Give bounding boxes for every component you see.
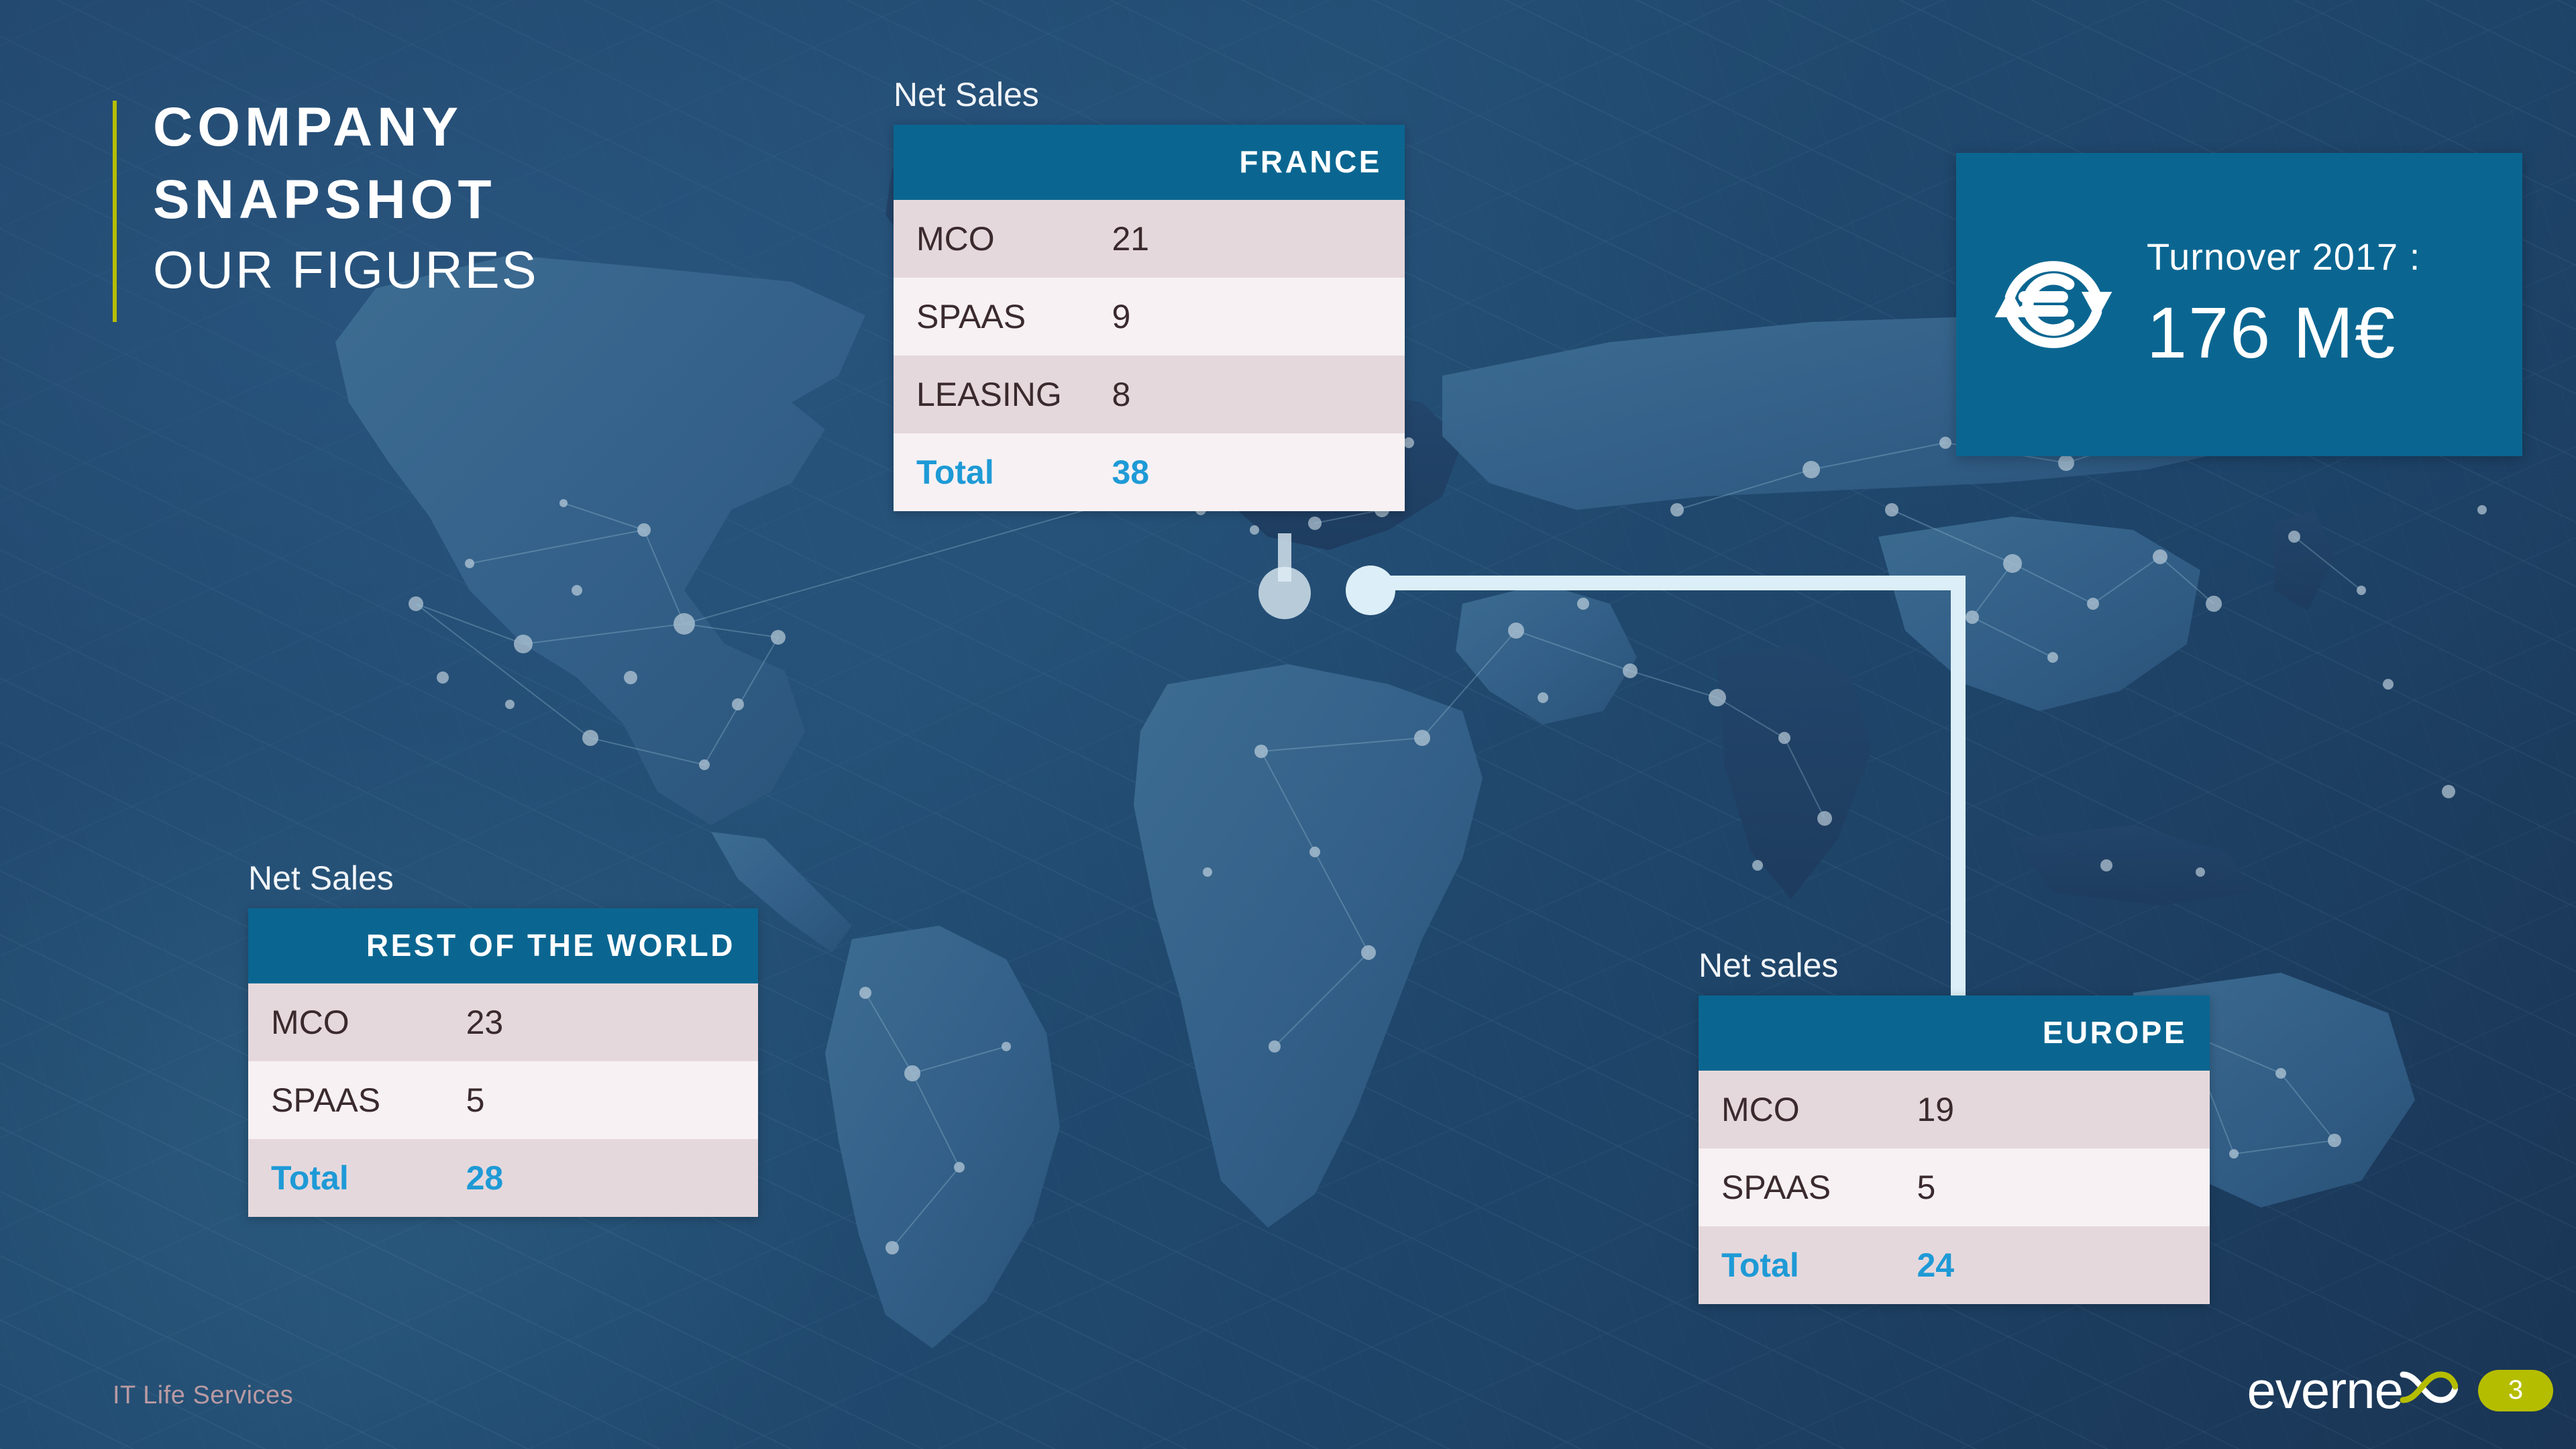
row-label-total: Total (271, 1159, 466, 1197)
table-row-total: Total 24 (1699, 1226, 2210, 1304)
turnover-label: Turnover 2017 : (2147, 235, 2485, 278)
row-value-total: 38 (1112, 453, 1149, 492)
table-row: SPAAS 5 (248, 1061, 758, 1139)
row-label: MCO (271, 1003, 466, 1042)
table-row: SPAAS 5 (1699, 1148, 2210, 1226)
page-title-line-1: COMPANY (153, 91, 539, 164)
logo-wordmark: everne (2247, 1360, 2404, 1421)
slide-root: COMPANY SNAPSHOT OUR FIGURES Net Sales F… (0, 0, 2576, 1449)
table-row: LEASING 8 (894, 356, 1405, 433)
europe-table-body: EUROPE MCO 19 SPAAS 5 Total 24 (1699, 996, 2210, 1304)
brand-area: everne 3 (2247, 1360, 2554, 1421)
euro-recycle-icon (1990, 241, 2117, 368)
table-row: SPAAS 9 (894, 278, 1405, 356)
row-label: MCO (1721, 1090, 1917, 1129)
row-value: 9 (1112, 297, 1130, 336)
row-label: LEASING (916, 375, 1112, 414)
row-value: 8 (1112, 375, 1130, 414)
row-label: SPAAS (1721, 1168, 1917, 1207)
europe-table-caption: Net sales (1699, 946, 2210, 985)
row-value: 21 (1112, 219, 1149, 258)
page-subtitle: OUR FIGURES (153, 236, 539, 304)
row-label-total: Total (916, 453, 1112, 492)
row-label: SPAAS (271, 1081, 466, 1120)
row-label: MCO (916, 219, 1112, 258)
title-accent-bar (113, 101, 117, 322)
row-value-total: 28 (466, 1159, 504, 1197)
footer-note: IT Life Services (113, 1381, 293, 1410)
row-value: 23 (466, 1003, 504, 1042)
france-table-caption: Net Sales (894, 75, 1405, 114)
rest-of-world-table-caption: Net Sales (248, 859, 758, 898)
row-label-total: Total (1721, 1246, 1917, 1285)
france-table-body: FRANCE MCO 21 SPAAS 9 LEASING 8 Total 38 (894, 125, 1405, 511)
slide-title-block: COMPANY SNAPSHOT OUR FIGURES (113, 89, 539, 322)
europe-table-header: EUROPE (1699, 996, 2210, 1071)
france-table-header: FRANCE (894, 125, 1405, 200)
turnover-value: 176 M€ (2147, 290, 2485, 374)
page-title-line-2: SNAPSHOT (153, 164, 539, 236)
rest-of-world-table-body: REST OF THE WORLD MCO 23 SPAAS 5 Total 2… (248, 908, 758, 1217)
table-row-total: Total 38 (894, 433, 1405, 511)
table-row-total: Total 28 (248, 1139, 758, 1217)
logo-x-icon (2399, 1366, 2458, 1408)
table-row: MCO 21 (894, 200, 1405, 278)
row-value: 5 (466, 1081, 485, 1120)
evernex-logo: everne (2247, 1360, 2459, 1421)
table-row: MCO 19 (1699, 1071, 2210, 1148)
row-value-total: 24 (1917, 1246, 1954, 1285)
row-value: 19 (1917, 1090, 1954, 1129)
page-number-badge: 3 (2478, 1370, 2553, 1411)
france-net-sales-table: Net Sales FRANCE MCO 21 SPAAS 9 LEASING … (894, 75, 1405, 511)
rest-of-world-table-header: REST OF THE WORLD (248, 908, 758, 983)
rest-of-world-net-sales-table: Net Sales REST OF THE WORLD MCO 23 SPAAS… (248, 859, 758, 1217)
row-label: SPAAS (916, 297, 1112, 336)
turnover-panel: Turnover 2017 : 176 M€ (1956, 153, 2522, 456)
table-row: MCO 23 (248, 983, 758, 1061)
europe-net-sales-table: Net sales EUROPE MCO 19 SPAAS 5 Total 24 (1699, 946, 2210, 1304)
row-value: 5 (1917, 1168, 1935, 1207)
